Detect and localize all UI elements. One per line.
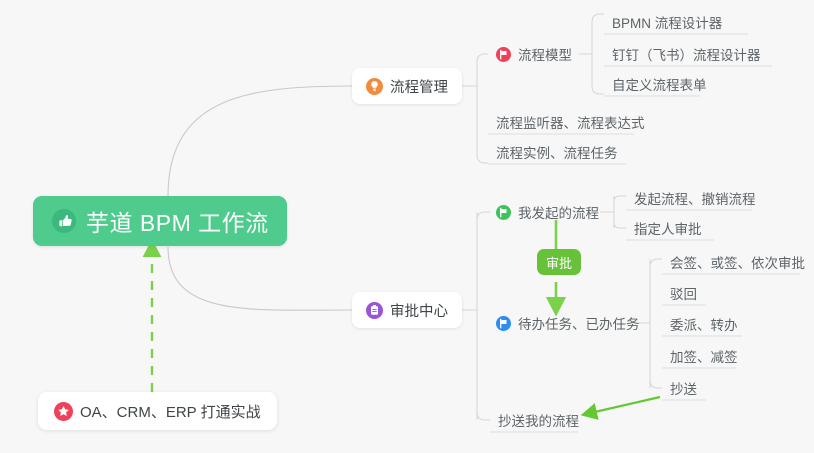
node-label: 会签、或签、依次审批 [670, 252, 805, 272]
node-label: 委派、转办 [670, 314, 738, 334]
link-my-process-corner-bottom [614, 222, 626, 228]
link-root-to-process-mgmt [168, 86, 352, 196]
callout-label: OA、CRM、ERP 打通实战 [80, 401, 261, 422]
arrow-cc-to-ccmyprocess [586, 397, 660, 414]
node-dingtalk-designer[interactable]: 钉钉（飞书）流程设计器 [604, 40, 767, 68]
root-label: 芋道 BPM 工作流 [86, 204, 269, 238]
callout-integration[interactable]: OA、CRM、ERP 打通实战 [38, 392, 277, 430]
link-process-mgmt-corner-bottom [477, 155, 488, 163]
link-todo-corner-bottom [650, 380, 662, 388]
root-node[interactable]: 芋道 BPM 工作流 [33, 196, 287, 246]
link-approval-center-corner-top [477, 212, 490, 220]
node-process-instance[interactable]: 流程实例、流程任务 [488, 138, 624, 166]
thumbs-up-icon [51, 208, 77, 234]
node-label: 流程模型 [518, 44, 572, 64]
approval-badge-label: 审批 [546, 253, 572, 272]
node-delegate-transfer[interactable]: 委派、转办 [662, 310, 744, 338]
node-label: 我发起的流程 [518, 202, 599, 222]
node-label: BPMN 流程设计器 [612, 12, 722, 32]
node-start-cancel-process[interactable]: 发起流程、撤销流程 [626, 184, 762, 212]
branch-approval-center[interactable]: 审批中心 [352, 292, 462, 328]
link-process-model-corner-bottom [592, 86, 604, 94]
node-reject[interactable]: 驳回 [662, 279, 703, 307]
node-label: 抄送我的流程 [498, 410, 579, 430]
node-label: 指定人审批 [634, 218, 702, 238]
lightbulb-icon [366, 78, 383, 95]
node-label: 钉钉（飞书）流程设计器 [612, 44, 761, 64]
node-label: 流程监听器、流程表达式 [496, 112, 645, 132]
node-assigned-approver[interactable]: 指定人审批 [626, 214, 708, 242]
node-label: 抄送 [670, 378, 697, 398]
approval-badge: 审批 [537, 249, 581, 275]
branch-label: 审批中心 [390, 300, 448, 321]
node-process-listener[interactable]: 流程监听器、流程表达式 [488, 108, 651, 136]
link-my-process-corner-top [614, 196, 626, 202]
node-custom-form[interactable]: 自定义流程表单 [604, 70, 713, 98]
flag-icon [496, 205, 511, 220]
node-bpmn-designer[interactable]: BPMN 流程设计器 [604, 8, 728, 36]
branch-label: 流程管理 [390, 76, 448, 97]
link-approval-center-corner-bottom [477, 412, 490, 420]
node-todo-done-tasks[interactable]: 待办任务、已办任务 [490, 309, 646, 337]
node-countersign[interactable]: 会签、或签、依次审批 [662, 248, 811, 276]
node-label: 驳回 [670, 283, 697, 303]
node-my-initiated-process[interactable]: 我发起的流程 [490, 198, 605, 226]
star-icon [54, 402, 73, 421]
node-label: 发起流程、撤销流程 [634, 188, 756, 208]
node-label: 流程实例、流程任务 [496, 142, 618, 162]
node-label: 待办任务、已办任务 [518, 313, 640, 333]
clipboard-icon [366, 302, 383, 319]
node-add-remove-sign[interactable]: 加签、减签 [662, 342, 744, 370]
node-process-model[interactable]: 流程模型 [490, 40, 578, 68]
link-root-to-approval-center [168, 247, 352, 310]
node-label: 自定义流程表单 [612, 74, 707, 94]
flag-icon [496, 47, 511, 62]
mindmap-canvas: 芋道 BPM 工作流 流程管理 流程模型 BPMN 流程设计器 钉钉（飞书）流程 [0, 0, 814, 453]
node-cc-my-process[interactable]: 抄送我的流程 [490, 406, 585, 434]
node-cc[interactable]: 抄送 [662, 374, 703, 402]
link-process-mgmt-corner-top [477, 54, 488, 62]
link-process-model-corner-top [592, 14, 604, 22]
node-label: 加签、减签 [670, 346, 738, 366]
flag-icon [496, 316, 511, 331]
branch-process-management[interactable]: 流程管理 [352, 68, 462, 104]
link-todo-corner-top [650, 259, 662, 267]
